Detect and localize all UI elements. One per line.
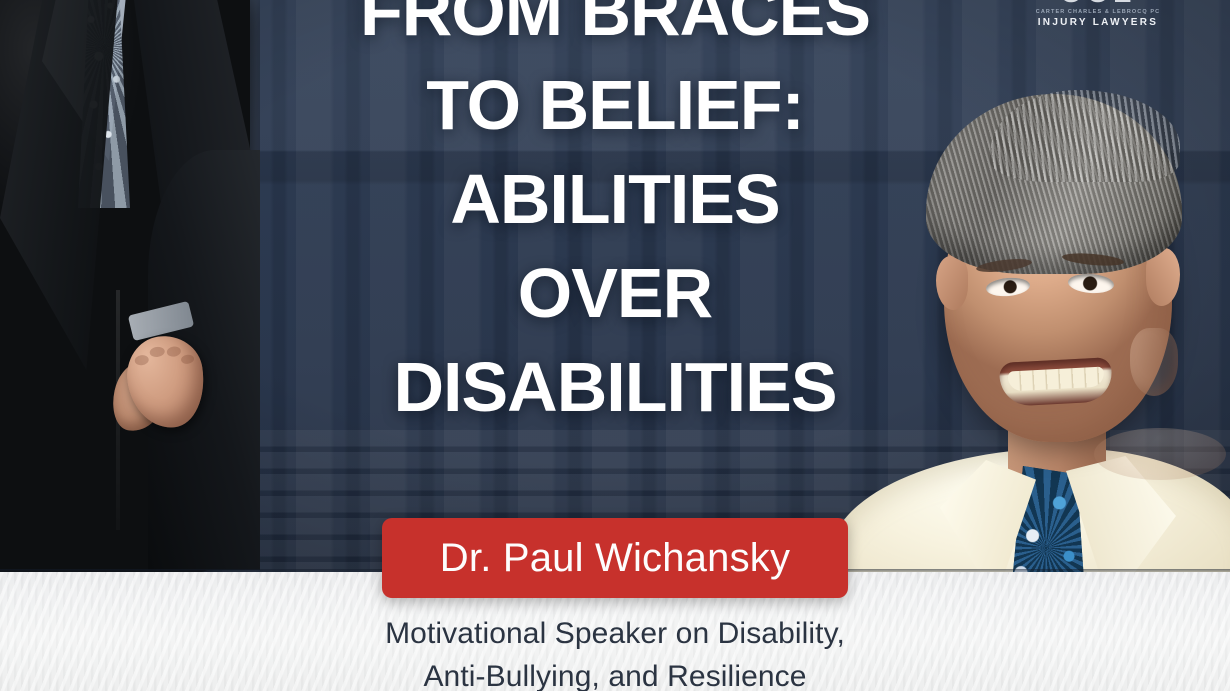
subtitle: Motivational Speaker on Disability, Anti… <box>230 612 1000 691</box>
promotional-poster: NEW JERSEY MOTOR VEHICLE COMMISSION CCL … <box>0 0 1230 691</box>
nose <box>1130 328 1178 396</box>
subtitle-line-2: Anti-Bullying, and Resilience <box>230 655 1000 691</box>
chin <box>1094 428 1226 480</box>
logo-monogram: CCL <box>1012 0 1184 8</box>
ear-left <box>936 256 968 310</box>
speaker-name: Dr. Paul Wichansky <box>440 536 790 581</box>
left-figure-man-in-suit <box>0 0 260 580</box>
knuckle <box>180 354 194 365</box>
clasped-hands <box>110 330 214 450</box>
logo-tagline: INJURY LAWYERS <box>1012 17 1184 28</box>
knuckle <box>166 346 181 358</box>
knuckle <box>149 346 165 358</box>
knuckle <box>134 354 149 366</box>
logo-firm-name: CARTER CHARLES & LEBROCQ PC <box>1012 9 1184 15</box>
law-firm-logo: CCL CARTER CHARLES & LEBROCQ PC INJURY L… <box>1012 0 1184 40</box>
subtitle-line-1: Motivational Speaker on Disability, <box>230 612 1000 655</box>
speaker-name-badge: Dr. Paul Wichansky <box>382 518 848 598</box>
